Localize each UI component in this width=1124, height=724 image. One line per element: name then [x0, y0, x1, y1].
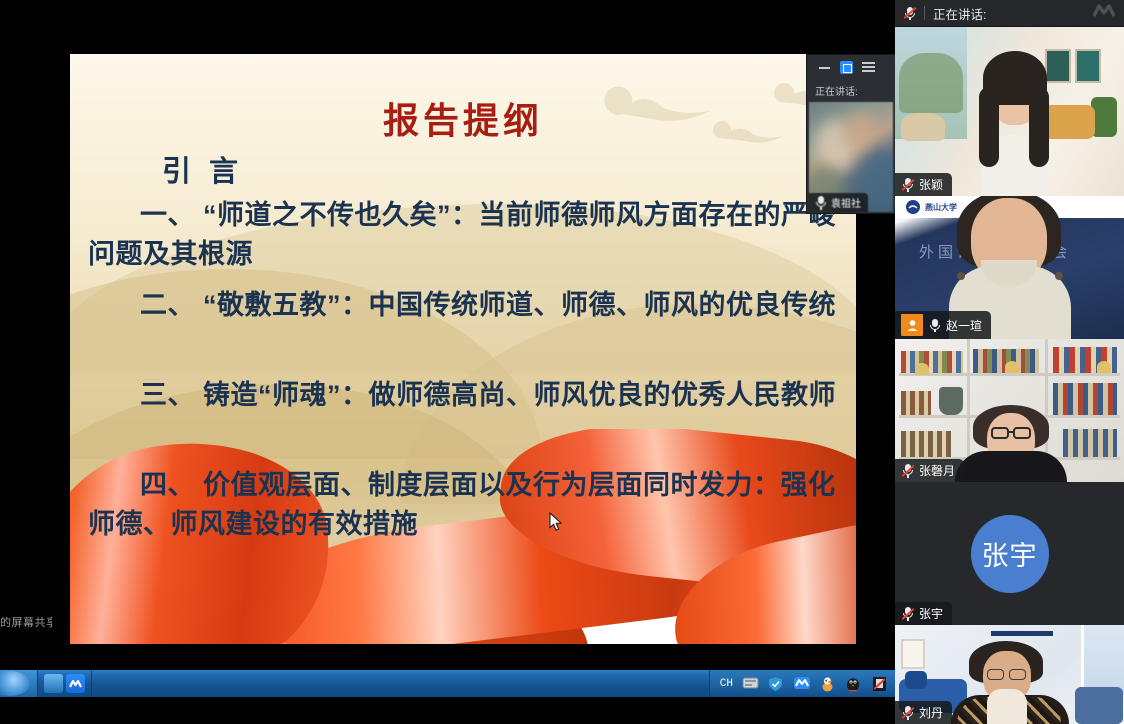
taskbar-window-list[interactable] [92, 670, 709, 697]
pip-titlebar[interactable] [807, 55, 895, 80]
screen-root: 报告提纲 引 言 一、 “师道之不传也久矣”：当前师德师风方面存在的严峻问题及其… [0, 0, 1124, 724]
participant-name: 刘丹 [919, 704, 943, 721]
start-orb-icon [0, 671, 30, 696]
windows-taskbar[interactable]: CH [0, 670, 895, 697]
recording-icon[interactable] [872, 676, 889, 692]
pip-speaker-name: 袁祖社 [831, 195, 861, 210]
sogou-pinyin-icon[interactable] [820, 676, 837, 692]
keyboard-icon[interactable] [742, 676, 759, 692]
floating-speaker-window[interactable]: 正在讲话: 袁祖社 [806, 54, 895, 214]
mic-icon[interactable] [928, 318, 941, 333]
mic-muted-icon[interactable] [901, 177, 914, 192]
participant-name: 张磬月 [919, 462, 955, 479]
avatar: 张宇 [971, 515, 1049, 593]
list-view-icon[interactable] [862, 61, 875, 74]
participant-tile[interactable]: 张磬月 [895, 339, 1124, 482]
restore-icon[interactable] [840, 61, 853, 74]
strip-header: 正在讲话: [895, 0, 1124, 27]
ie-icon[interactable] [44, 674, 63, 693]
participant-name-badge: 赵一瑄 [895, 311, 991, 339]
participant-name-badge: 张磬月 [895, 459, 964, 482]
video-feed [895, 27, 1124, 196]
shared-screen-area[interactable]: 报告提纲 引 言 一、 “师道之不传也久矣”：当前师德师风方面存在的严峻问题及其… [0, 0, 895, 697]
wemeet-icon[interactable] [66, 674, 85, 693]
avatar-placeholder-icon [901, 314, 923, 336]
participant-name-badge: 张宇 [895, 602, 952, 625]
qq-penguin-icon[interactable] [846, 676, 863, 692]
quick-launch-bar[interactable] [38, 670, 92, 697]
slide-item-4: 四、 价值观层面、制度层面以及行为层面同时发力：强化师德、师风建设的有效措施 [88, 466, 846, 544]
participant-tile[interactable]: 张宇 张宇 [895, 482, 1124, 625]
university-watermark: 燕山大学 [925, 202, 957, 213]
slide-title: 报告提纲 [70, 92, 856, 144]
slide-item-2: 二、 “敬敷五教”：中国传统师道、师德、师风的优良传统 [88, 286, 846, 325]
minimize-icon[interactable] [818, 61, 831, 74]
mic-muted-icon[interactable] [901, 705, 914, 720]
participant-name-badge: 张颖 [895, 173, 952, 196]
app-logo-icon [1092, 3, 1116, 24]
presentation-slide: 报告提纲 引 言 一、 “师道之不传也久矣”：当前师德师风方面存在的严峻问题及其… [70, 54, 856, 644]
ime-indicator[interactable]: CH [720, 678, 733, 690]
participant-name: 张宇 [919, 605, 943, 622]
security-shield-icon[interactable] [768, 676, 785, 692]
pip-status-text: 正在讲话: [807, 80, 895, 102]
participant-tile[interactable]: 燕山大学 外国语学院研讨会 赵一瑄 [895, 196, 1124, 339]
pip-video-feed[interactable]: 袁祖社 [809, 102, 893, 212]
system-tray[interactable]: CH [709, 670, 895, 697]
start-button[interactable] [0, 670, 38, 697]
participant-name-badge: 刘丹 [895, 701, 952, 724]
pip-speaker-badge: 袁祖社 [809, 193, 868, 212]
participant-name: 赵一瑄 [946, 317, 982, 334]
divider [924, 6, 925, 20]
slide-text-block: 报告提纲 引 言 一、 “师道之不传也久矣”：当前师德师风方面存在的严峻问题及其… [70, 54, 856, 644]
screen-share-label: 的屏幕共享 [0, 612, 52, 634]
speaking-status-label: 正在讲话: [933, 4, 986, 23]
slide-item-1: 一、 “师道之不传也久矣”：当前师德师风方面存在的严峻问题及其根源 [88, 196, 846, 274]
slide-item-3: 三、 铸造“师魂”：做师德高尚、师风优良的优秀人民教师 [88, 376, 846, 415]
participant-name: 张颖 [919, 176, 943, 193]
participant-strip[interactable]: 正在讲话: [895, 0, 1124, 724]
mouse-cursor [549, 512, 563, 537]
mic-icon [814, 195, 827, 210]
mic-muted-icon[interactable] [901, 606, 914, 621]
wemeet-icon[interactable] [794, 676, 811, 692]
participant-tile[interactable]: 刘丹 [895, 625, 1124, 724]
mic-muted-icon[interactable] [903, 6, 916, 21]
slide-lead: 引 言 [162, 148, 243, 190]
participant-tile[interactable]: 张颖 [895, 27, 1124, 196]
mic-muted-icon[interactable] [901, 463, 914, 478]
